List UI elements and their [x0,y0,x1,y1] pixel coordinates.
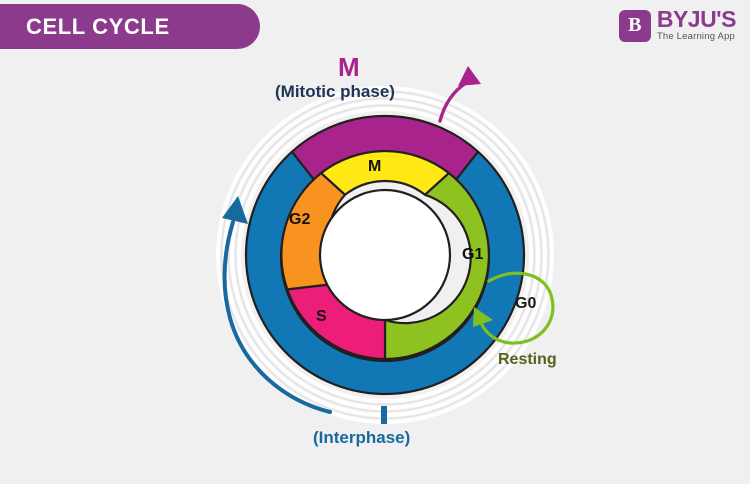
label-resting: Resting [498,351,557,369]
label-m: M [338,52,360,83]
label-mitotic-phase: (Mitotic phase) [275,82,395,102]
label-interphase: (Interphase) [313,428,410,448]
cell-nucleus-hub [320,190,450,320]
label-g0: G0 [515,295,536,313]
cell-cycle-svg [0,0,750,479]
label-phase-g1: G1 [462,246,483,264]
label-phase-g2: G2 [289,211,310,229]
interphase-tick-icon [381,406,387,424]
label-phase-m: M [368,158,381,176]
label-phase-s: S [316,308,327,326]
cell-cycle-diagram: M (Mitotic phase) (Interphase) G0 Restin… [0,0,750,479]
